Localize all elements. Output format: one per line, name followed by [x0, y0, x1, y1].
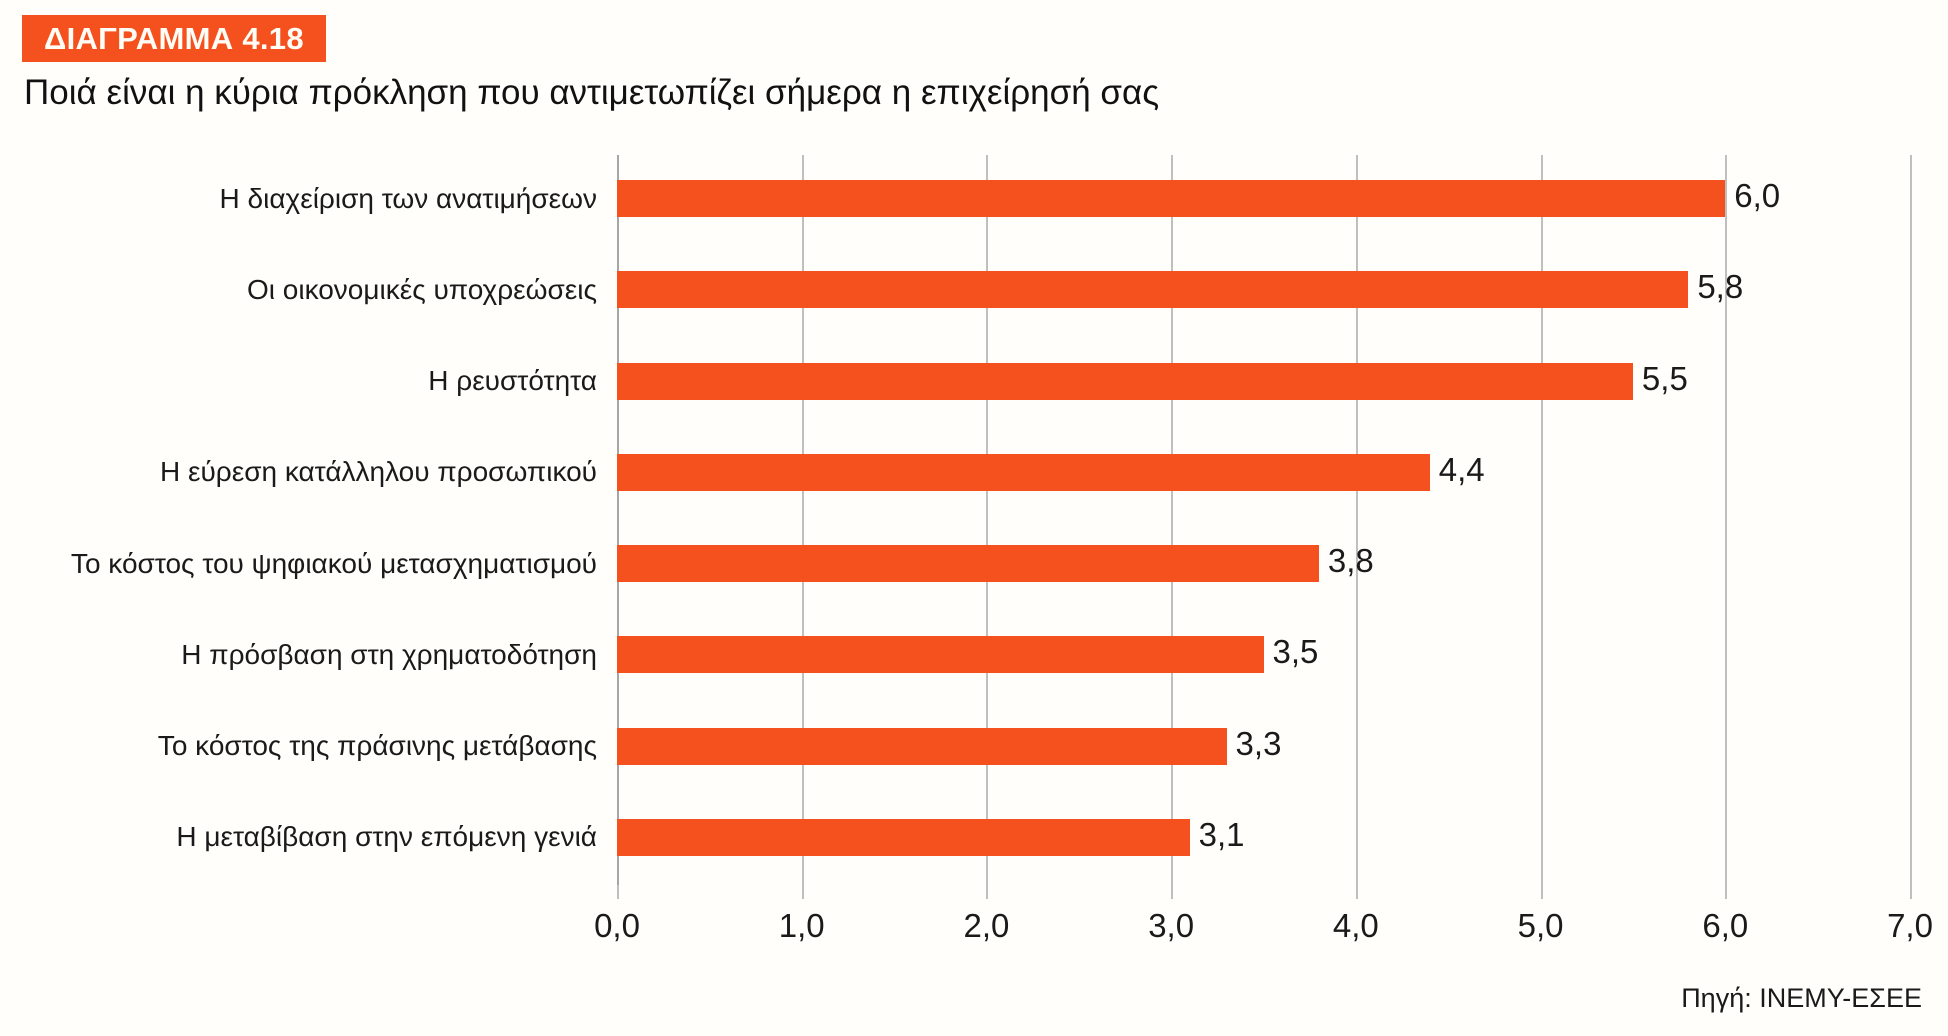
bar	[617, 454, 1430, 491]
gridline	[1910, 155, 1912, 885]
bar-row: 3,5	[617, 611, 1910, 702]
plot-area: 6,05,85,54,43,83,53,33,1 0,01,02,03,04,0…	[617, 155, 1910, 885]
page-title: Ποιά είναι η κύρια πρόκληση που αντιμετω…	[24, 73, 1159, 113]
category-label: Η διαχείριση των ανατιμήσεων	[0, 183, 597, 215]
tick-mark	[986, 885, 988, 899]
x-axis-tick-label: 7,0	[1887, 907, 1933, 945]
x-axis-tick-label: 0,0	[594, 907, 640, 945]
bar-value-label: 3,5	[1264, 633, 1319, 671]
diagram-badge: ΔΙΑΓΡΑΜΜΑ 4.18	[22, 15, 326, 62]
bar-row: 3,8	[617, 520, 1910, 611]
bar-value-label: 3,1	[1190, 816, 1245, 854]
tick-mark	[802, 885, 804, 899]
bar-value-label: 4,4	[1430, 451, 1485, 489]
tick-mark	[617, 885, 619, 899]
x-axis-tick-label: 2,0	[963, 907, 1009, 945]
tick-mark	[1356, 885, 1358, 899]
diagram-badge-label: ΔΙΑΓΡΑΜΜΑ 4.18	[44, 21, 304, 57]
bar	[617, 271, 1688, 308]
bar-row: 6,0	[617, 155, 1910, 246]
tick-mark	[1171, 885, 1173, 899]
bar	[617, 180, 1725, 217]
source-note: Πηγή: ΙΝΕΜΥ-ΕΣΕΕ	[1681, 983, 1922, 1014]
x-axis-tick-label: 6,0	[1702, 907, 1748, 945]
bar-row: 5,5	[617, 338, 1910, 429]
x-axis-tick-label: 4,0	[1333, 907, 1379, 945]
category-label: Η πρόσβαση στη χρηματοδότηση	[0, 639, 597, 671]
bar-chart: Η διαχείριση των ανατιμήσεωνΟι οικονομικ…	[0, 155, 1948, 945]
bar-row: 4,4	[617, 429, 1910, 520]
bar	[617, 636, 1264, 673]
category-label: Το κόστος του ψηφιακού μετασχηματισμού	[0, 548, 597, 580]
bar-value-label: 5,8	[1688, 268, 1743, 306]
bar-value-label: 3,8	[1319, 542, 1374, 580]
category-label: Οι οικονομικές υποχρεώσεις	[0, 274, 597, 306]
bar	[617, 363, 1633, 400]
tick-mark	[1910, 885, 1912, 899]
bar-row: 3,3	[617, 703, 1910, 794]
chart-page: ΔΙΑΓΡΑΜΜΑ 4.18 Ποιά είναι η κύρια πρόκλη…	[0, 0, 1948, 1036]
x-axis-tick-label: 1,0	[779, 907, 825, 945]
bar-row: 5,8	[617, 246, 1910, 337]
bar-value-label: 6,0	[1725, 177, 1780, 215]
category-label: Το κόστος της πράσινης μετάβασης	[0, 730, 597, 762]
bar	[617, 819, 1190, 856]
bar	[617, 545, 1319, 582]
x-axis-tick-label: 5,0	[1518, 907, 1564, 945]
bar-value-label: 5,5	[1633, 360, 1688, 398]
category-label: Η εύρεση κατάλληλου προσωπικού	[0, 456, 597, 488]
category-label: Η μεταβίβαση στην επόμενη γενιά	[0, 821, 597, 853]
bar	[617, 728, 1227, 765]
bar-row: 3,1	[617, 794, 1910, 885]
category-label: Η ρευστότητα	[0, 365, 597, 397]
tick-mark	[1725, 885, 1727, 899]
tick-mark	[1541, 885, 1543, 899]
bar-value-label: 3,3	[1227, 725, 1282, 763]
x-axis-tick-label: 3,0	[1148, 907, 1194, 945]
